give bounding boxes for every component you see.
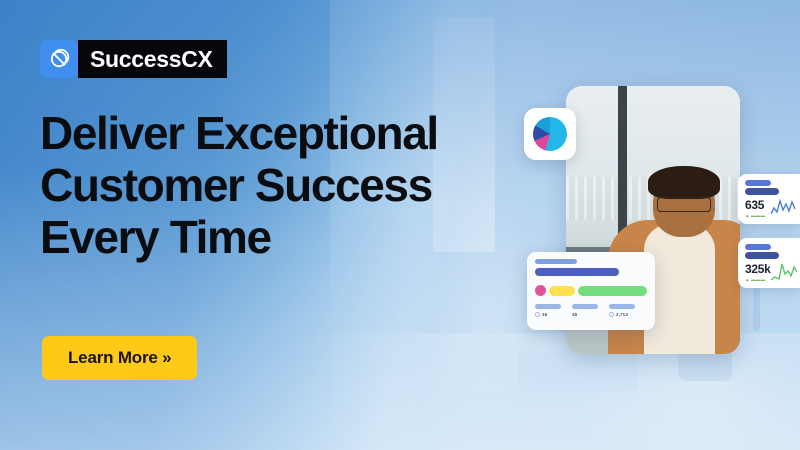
learn-more-button[interactable]: Learn More » — [42, 336, 197, 380]
photo-hair — [648, 166, 720, 199]
stat-card: 635 ▲ ▬▬▬ — [738, 174, 800, 224]
sparkline-icon — [771, 196, 797, 220]
photo-glasses — [657, 197, 711, 212]
stat-placeholder-bar — [745, 244, 771, 250]
stat-label-bar — [572, 304, 598, 309]
stat-placeholder-bar — [745, 188, 779, 195]
stat-label-bar — [609, 304, 635, 309]
ring-icon — [609, 312, 614, 317]
stat-number: 45 — [572, 312, 598, 317]
stat-number-value: 2,713 — [616, 312, 628, 317]
headline-line-1: Deliver Exceptional — [40, 108, 540, 160]
headline-line-2: Customer Success — [40, 160, 540, 212]
circle-slash-logo-icon — [40, 40, 78, 78]
stat-card: 325k ▲ ▬▬▬ — [738, 238, 800, 288]
hero-content: SuccessCX Deliver Exceptional Customer S… — [40, 0, 560, 450]
stat-placeholder-bar — [745, 180, 771, 186]
headline-line-3: Every Time — [40, 212, 540, 264]
stat-number: 2,713 — [609, 312, 635, 317]
page-title: Deliver Exceptional Customer Success Eve… — [40, 108, 540, 264]
segment-green — [578, 286, 647, 296]
stat-number-value: 45 — [572, 312, 577, 317]
brand-logo[interactable]: SuccessCX — [40, 40, 227, 78]
stat-placeholder-bar — [745, 252, 779, 259]
brand-wordmark: SuccessCX — [78, 40, 227, 78]
sparkline-icon — [771, 260, 797, 284]
hero-banner: 635 ▲ ▬▬▬ 325k ▲ ▬▬▬ 16 — [0, 0, 800, 450]
